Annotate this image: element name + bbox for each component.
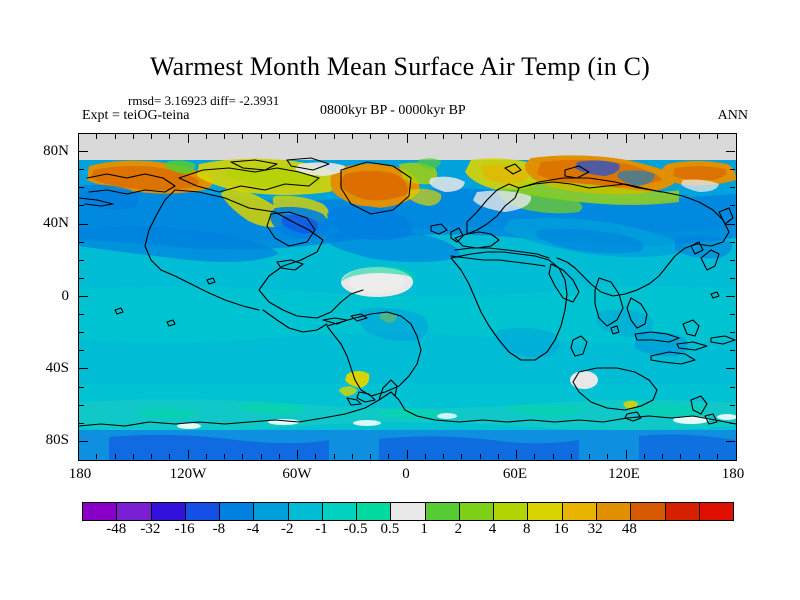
x-tick-bottom	[297, 450, 298, 459]
y-tick-left	[79, 350, 84, 351]
y-tick-left	[79, 260, 84, 261]
x-tick-top	[151, 134, 152, 139]
y-tick-right	[730, 187, 735, 188]
y-tick-left	[79, 151, 88, 152]
y-tick-left	[79, 441, 88, 442]
colorbar-segment	[83, 503, 117, 520]
y-tick-left	[79, 224, 88, 225]
y-tick-right	[730, 260, 735, 261]
y-tick-right	[730, 314, 735, 315]
colorbar-segment	[426, 503, 460, 520]
x-tick-top	[315, 134, 316, 139]
page-title: Warmest Month Mean Surface Air Temp (in …	[0, 52, 800, 82]
x-tick-top	[334, 134, 335, 139]
y-tick-right	[726, 296, 735, 297]
x-axis-label-180e: 180	[722, 466, 745, 483]
y-tick-right	[730, 350, 735, 351]
period-label: 0800kyr BP - 0000kyr BP	[320, 103, 466, 119]
x-tick-top	[188, 134, 189, 143]
x-tick-bottom	[480, 454, 481, 459]
x-axis-label-120w: 120W	[170, 466, 207, 483]
colorbar-segment	[528, 503, 562, 520]
y-tick-left	[79, 242, 84, 243]
colorbar-segment	[117, 503, 151, 520]
y-tick-left	[79, 296, 88, 297]
x-tick-top	[626, 134, 627, 143]
x-tick-top	[96, 134, 97, 139]
y-tick-right	[726, 224, 735, 225]
x-axis-label-0: 0	[402, 466, 410, 483]
x-tick-top	[133, 134, 134, 139]
x-tick-top	[115, 134, 116, 139]
colorbar-segment	[152, 503, 186, 520]
colorbar-tick-label: -4	[247, 521, 260, 538]
colorbar-segment	[323, 503, 357, 520]
figure-canvas: Warmest Month Mean Surface Air Temp (in …	[0, 0, 800, 600]
x-tick-top	[279, 134, 280, 139]
x-tick-bottom	[644, 454, 645, 459]
x-tick-bottom	[151, 454, 152, 459]
experiment-label: Expt = teiOG-teina	[82, 108, 189, 124]
colorbar-tick-label: -0.5	[344, 521, 368, 538]
x-tick-top	[206, 134, 207, 139]
y-axis-label-80s: 80S	[46, 432, 69, 449]
x-tick-top	[480, 134, 481, 139]
x-tick-bottom	[534, 454, 535, 459]
colorbar-tick-label: 0.5	[381, 521, 400, 538]
colorbar-segment	[357, 503, 391, 520]
x-tick-top	[297, 134, 298, 143]
y-axis-label-0: 0	[62, 288, 70, 305]
colorbar	[82, 502, 734, 521]
x-tick-bottom	[279, 454, 280, 459]
colorbar-segment	[494, 503, 528, 520]
y-tick-right	[726, 151, 735, 152]
x-tick-top	[662, 134, 663, 139]
y-tick-right	[726, 368, 735, 369]
x-tick-bottom	[334, 454, 335, 459]
x-tick-bottom	[242, 454, 243, 459]
x-tick-bottom	[315, 454, 316, 459]
colorbar-tick-label: -1	[315, 521, 328, 538]
colorbar-tick-label: -32	[140, 521, 160, 538]
x-tick-bottom	[443, 454, 444, 459]
x-tick-bottom	[407, 450, 408, 459]
x-tick-bottom	[461, 454, 462, 459]
y-tick-left	[79, 187, 84, 188]
y-tick-right	[730, 205, 735, 206]
x-tick-top	[443, 134, 444, 139]
colorbar-tick-label: 2	[455, 521, 463, 538]
x-tick-bottom	[425, 454, 426, 459]
x-axis-label-120e: 120E	[608, 466, 640, 483]
x-tick-top	[699, 134, 700, 139]
x-tick-bottom	[370, 454, 371, 459]
colorbar-tick-label: 16	[553, 521, 568, 538]
x-tick-bottom	[699, 454, 700, 459]
colorbar-segment	[666, 503, 700, 520]
x-tick-bottom	[352, 454, 353, 459]
x-tick-top	[425, 134, 426, 139]
x-tick-bottom	[589, 454, 590, 459]
colorbar-segment	[289, 503, 323, 520]
colorbar-segment	[700, 503, 733, 520]
x-axis-label-60e: 60E	[503, 466, 527, 483]
y-tick-left	[79, 169, 84, 170]
colorbar-segment	[391, 503, 425, 520]
x-tick-top	[644, 134, 645, 139]
colorbar-segment	[563, 503, 597, 520]
world-anomaly-map	[79, 134, 736, 460]
colorbar-tick-label: -16	[175, 521, 195, 538]
x-tick-bottom	[607, 454, 608, 459]
colorbar-segment	[460, 503, 494, 520]
y-tick-left	[79, 405, 84, 406]
colorbar-tick-label: 4	[489, 521, 497, 538]
x-tick-top	[407, 134, 408, 143]
colorbar-tick-label: -48	[106, 521, 126, 538]
y-tick-right	[730, 242, 735, 243]
y-tick-right	[730, 423, 735, 424]
x-tick-bottom	[680, 454, 681, 459]
y-tick-left	[79, 387, 84, 388]
y-axis-label-40s: 40S	[46, 360, 69, 377]
y-tick-left	[79, 278, 84, 279]
colorbar-tick-label: -8	[213, 521, 226, 538]
x-tick-top	[242, 134, 243, 139]
colorbar-tick-labels: -48-32-16-8-4-2-1-0.50.51248163248	[82, 521, 732, 543]
colorbar-segment	[597, 503, 631, 520]
x-tick-bottom	[169, 454, 170, 459]
colorbar-segment	[186, 503, 220, 520]
colorbar-segment	[254, 503, 288, 520]
x-tick-top	[553, 134, 554, 139]
x-tick-bottom	[498, 454, 499, 459]
colorbar-tick-label: 48	[622, 521, 637, 538]
y-tick-right	[730, 169, 735, 170]
x-tick-top	[516, 134, 517, 143]
x-axis-label-180w: 180	[69, 466, 92, 483]
statistics-line: rmsd= 3.16923 diff= -2.3931	[128, 93, 279, 109]
x-tick-top	[169, 134, 170, 139]
x-tick-bottom	[261, 454, 262, 459]
y-axis-label-80n: 80N	[43, 143, 69, 160]
x-tick-top	[224, 134, 225, 139]
x-tick-top	[498, 134, 499, 139]
y-tick-right	[726, 441, 735, 442]
x-tick-top	[370, 134, 371, 139]
x-tick-bottom	[662, 454, 663, 459]
x-tick-top	[534, 134, 535, 139]
x-tick-bottom	[206, 454, 207, 459]
x-axis-label-60w: 60W	[282, 466, 311, 483]
y-tick-right	[730, 387, 735, 388]
x-tick-top	[717, 134, 718, 139]
x-tick-top	[352, 134, 353, 139]
x-tick-bottom	[626, 450, 627, 459]
y-tick-left	[79, 314, 84, 315]
x-tick-bottom	[188, 450, 189, 459]
colorbar-tick-label: 8	[523, 521, 531, 538]
colorbar-tick-label: 1	[420, 521, 428, 538]
y-tick-right	[730, 278, 735, 279]
x-tick-top	[388, 134, 389, 139]
x-tick-bottom	[115, 454, 116, 459]
map-plot-area	[78, 133, 737, 461]
x-tick-top	[571, 134, 572, 139]
x-tick-bottom	[553, 454, 554, 459]
x-tick-bottom	[717, 454, 718, 459]
y-tick-left	[79, 332, 84, 333]
x-tick-top	[461, 134, 462, 139]
x-tick-bottom	[516, 450, 517, 459]
y-tick-left	[79, 205, 84, 206]
x-tick-bottom	[571, 454, 572, 459]
colorbar-segment	[631, 503, 665, 520]
x-tick-bottom	[133, 454, 134, 459]
colorbar-segment	[220, 503, 254, 520]
season-label: ANN	[718, 108, 748, 124]
x-tick-top	[589, 134, 590, 139]
x-tick-bottom	[224, 454, 225, 459]
x-tick-bottom	[96, 454, 97, 459]
x-tick-top	[680, 134, 681, 139]
y-axis-label-40n: 40N	[43, 215, 69, 232]
x-tick-bottom	[388, 454, 389, 459]
y-tick-left	[79, 423, 84, 424]
x-tick-top	[261, 134, 262, 139]
colorbar-tick-label: 32	[588, 521, 603, 538]
colorbar-tick-label: -2	[281, 521, 294, 538]
y-tick-right	[730, 405, 735, 406]
y-tick-right	[730, 332, 735, 333]
x-tick-top	[607, 134, 608, 139]
y-tick-left	[79, 368, 88, 369]
